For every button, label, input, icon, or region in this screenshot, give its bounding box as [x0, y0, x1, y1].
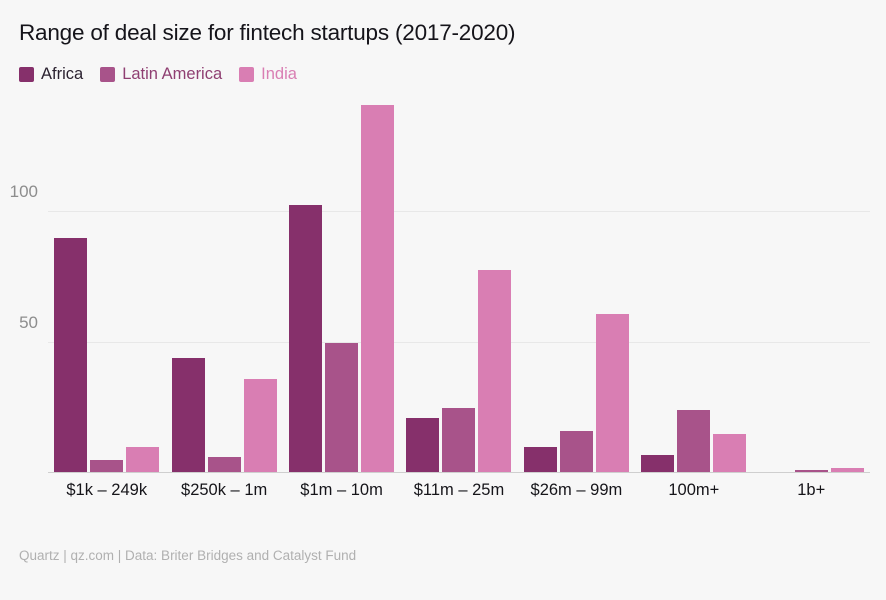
- legend-label: Africa: [41, 66, 83, 83]
- x-axis-tick-label: $26m – 99m: [518, 479, 635, 503]
- bar-group: [48, 95, 165, 473]
- bar-groups: [48, 95, 870, 473]
- bar-group: [283, 95, 400, 473]
- x-axis-line: [48, 472, 870, 473]
- y-axis-tick-label: 50: [19, 313, 38, 333]
- legend-item-india[interactable]: India: [239, 66, 297, 83]
- bar[interactable]: [641, 455, 674, 473]
- x-axis-tick-label: $11m – 25m: [400, 479, 517, 503]
- legend-swatch-icon: [100, 67, 115, 82]
- x-axis-labels: $1k – 249k$250k – 1m$1m – 10m$11m – 25m$…: [48, 479, 870, 503]
- bar-group: [635, 95, 752, 473]
- bar[interactable]: [208, 457, 241, 473]
- bar[interactable]: [244, 379, 277, 473]
- bar[interactable]: [524, 447, 557, 473]
- x-axis-tick-label: $1m – 10m: [283, 479, 400, 503]
- x-axis-tick-label: 1b+: [753, 479, 870, 503]
- bar[interactable]: [713, 434, 746, 473]
- bar[interactable]: [406, 418, 439, 473]
- bar[interactable]: [54, 238, 87, 473]
- x-axis-tick-label: $250k – 1m: [165, 479, 282, 503]
- chart-container: Range of deal size for fintech startups …: [0, 0, 886, 600]
- legend-swatch-icon: [19, 67, 34, 82]
- bar[interactable]: [560, 431, 593, 473]
- x-axis-tick-label: 100m+: [635, 479, 752, 503]
- bar[interactable]: [172, 358, 205, 473]
- bar[interactable]: [442, 408, 475, 473]
- bar[interactable]: [361, 105, 394, 473]
- legend-item-latin-america[interactable]: Latin America: [100, 66, 222, 83]
- bar[interactable]: [126, 447, 159, 473]
- bar[interactable]: [677, 410, 710, 473]
- plot-area: 50100: [48, 95, 870, 473]
- x-axis-tick-label: $1k – 249k: [48, 479, 165, 503]
- bar[interactable]: [596, 314, 629, 473]
- y-axis-tick-label: 100: [10, 182, 38, 202]
- bar[interactable]: [325, 343, 358, 473]
- legend-item-africa[interactable]: Africa: [19, 66, 83, 83]
- bar-group: [165, 95, 282, 473]
- legend-label: Latin America: [122, 66, 222, 83]
- bar-group: [753, 95, 870, 473]
- chart-title: Range of deal size for fintech startups …: [19, 20, 515, 46]
- legend-swatch-icon: [239, 67, 254, 82]
- bar[interactable]: [478, 270, 511, 473]
- chart-footer-credit: Quartz | qz.com | Data: Briter Bridges a…: [19, 548, 356, 563]
- bar-group: [518, 95, 635, 473]
- bar[interactable]: [289, 205, 322, 474]
- legend-label: India: [261, 66, 297, 83]
- chart-legend: AfricaLatin AmericaIndia: [19, 63, 297, 85]
- bar-group: [400, 95, 517, 473]
